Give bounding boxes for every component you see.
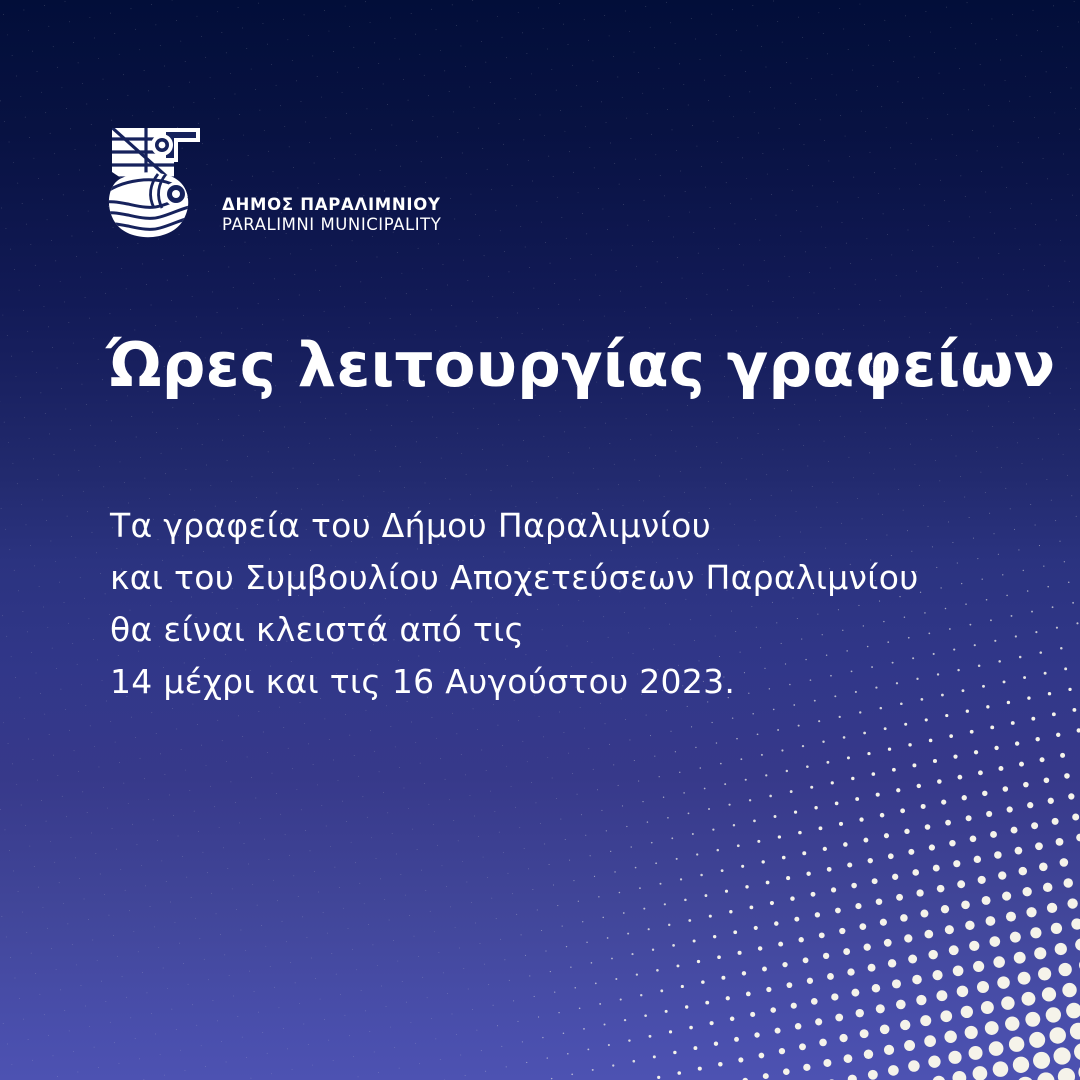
announcement-body: Τα γραφεία του Δήμου Παραλιμνίου και του… <box>110 500 919 708</box>
paralimni-municipality-emblem-icon <box>100 122 208 242</box>
body-line-1: Τα γραφεία του Δήμου Παραλιμνίου <box>110 500 919 552</box>
page-title: Ώρες λειτουργίας γραφείων <box>107 334 1055 398</box>
logo-lockup: ΔΗΜΟΣ ΠΑΡΑΛΙΜΝΙΟΥ PARALIMNI MUNICIPALITY <box>100 122 441 242</box>
logo-name-gr: ΔΗΜΟΣ ΠΑΡΑΛΙΜΝΙΟΥ <box>222 195 441 214</box>
logo-wordmark: ΔΗΜΟΣ ΠΑΡΑΛΙΜΝΙΟΥ PARALIMNI MUNICIPALITY <box>222 195 441 234</box>
logo-name-en: PARALIMNI MUNICIPALITY <box>222 215 441 234</box>
body-line-4: 14 μέχρι και τις 16 Αυγούστου 2023. <box>110 656 919 708</box>
body-line-2: και του Συμβουλίου Αποχετεύσεων Παραλιμν… <box>110 552 919 604</box>
emblem-head <box>100 172 204 237</box>
poster-canvas: ΔΗΜΟΣ ΠΑΡΑΛΙΜΝΙΟΥ PARALIMNI MUNICIPALITY… <box>0 0 1080 1080</box>
body-line-3: θα είναι κλειστά από τις <box>110 604 919 656</box>
